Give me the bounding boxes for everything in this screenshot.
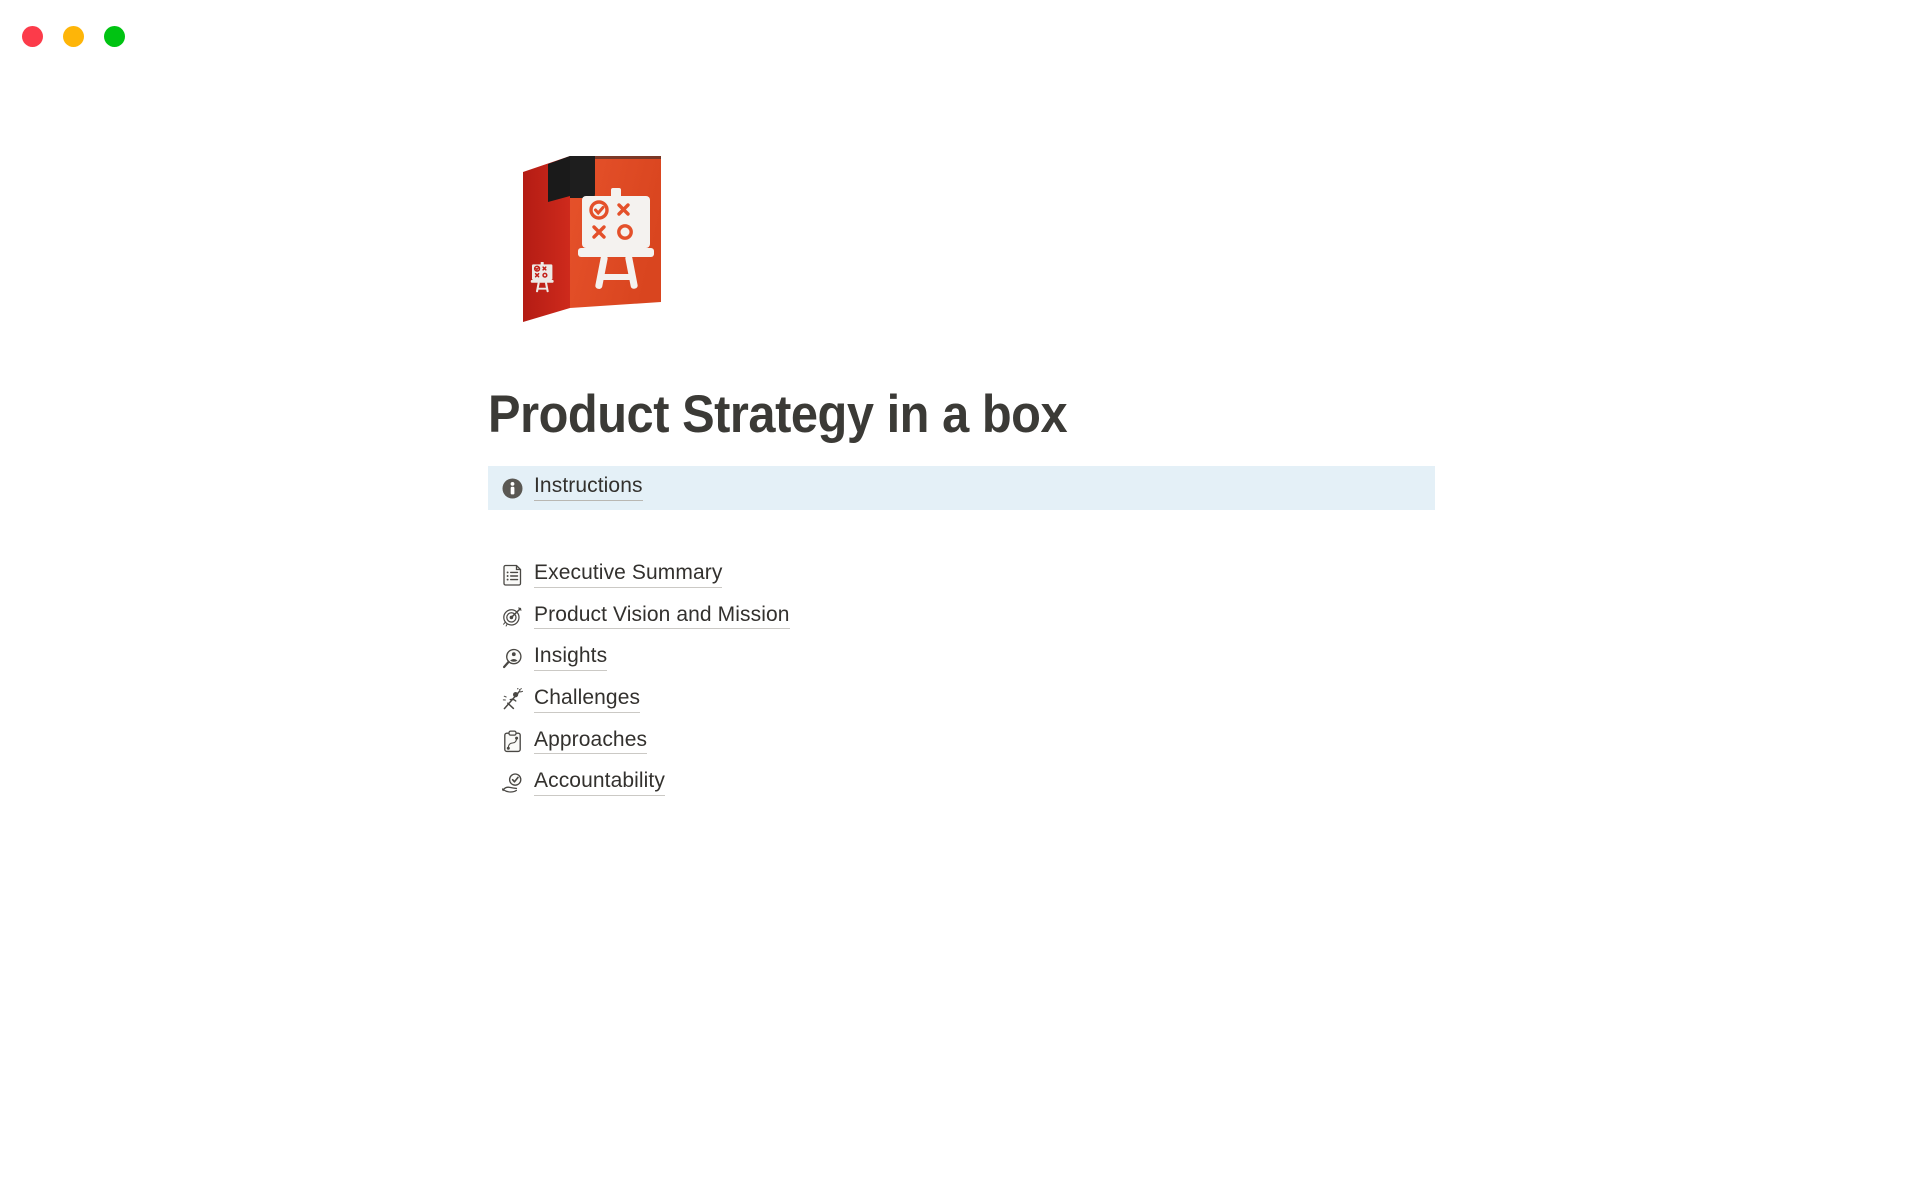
page-title: Product Strategy in a box bbox=[488, 385, 1362, 444]
instructions-callout[interactable]: Instructions bbox=[488, 466, 1435, 510]
page-root: Product Strategy in a box Instructions bbox=[0, 0, 1920, 1200]
section-link-list: Executive Summary bbox=[488, 562, 1438, 796]
link-label[interactable]: Executive Summary bbox=[534, 562, 722, 588]
clipboard-list-icon bbox=[502, 563, 523, 586]
maximize-window-button[interactable] bbox=[104, 26, 125, 47]
link-row-insights[interactable]: Insights bbox=[502, 645, 1438, 671]
link-row-challenges[interactable]: Challenges bbox=[502, 687, 1438, 713]
link-row-accountability[interactable]: Accountability bbox=[502, 770, 1438, 796]
info-icon bbox=[502, 478, 523, 499]
link-row-approaches[interactable]: Approaches bbox=[502, 729, 1438, 755]
link-label[interactable]: Approaches bbox=[534, 729, 647, 755]
minimize-window-button[interactable] bbox=[63, 26, 84, 47]
link-row-product-vision-and-mission[interactable]: Product Vision and Mission bbox=[502, 604, 1438, 630]
document-content: Product Strategy in a box Instructions bbox=[488, 150, 1438, 796]
magnifying-glass-icon bbox=[502, 647, 523, 670]
link-row-executive-summary[interactable]: Executive Summary bbox=[502, 562, 1438, 588]
hand-check-icon bbox=[502, 772, 523, 795]
close-window-button[interactable] bbox=[22, 26, 43, 47]
clipboard-icon bbox=[502, 730, 523, 753]
link-label[interactable]: Challenges bbox=[534, 687, 640, 713]
fencer-icon bbox=[502, 688, 523, 711]
link-label[interactable]: Product Vision and Mission bbox=[534, 604, 790, 630]
product-strategy-box-icon bbox=[518, 150, 666, 325]
instructions-link[interactable]: Instructions bbox=[534, 475, 643, 501]
dart-target-icon bbox=[502, 605, 523, 628]
window-controls bbox=[22, 26, 125, 47]
link-label[interactable]: Accountability bbox=[534, 770, 665, 796]
link-label[interactable]: Insights bbox=[534, 645, 607, 671]
